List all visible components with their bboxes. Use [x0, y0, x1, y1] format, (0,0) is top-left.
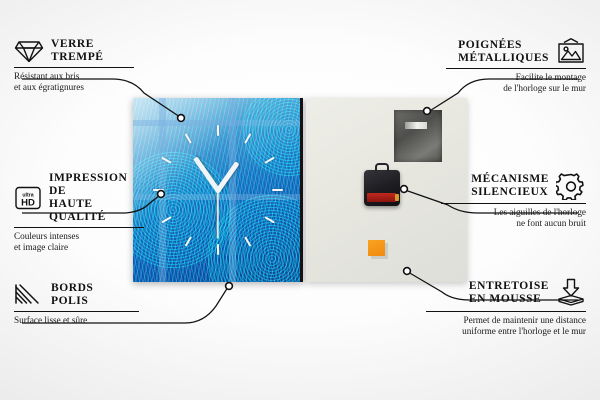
- divider: [14, 67, 134, 68]
- feature-title: BORDS POLIS: [51, 282, 93, 308]
- feature-title: IMPRESSION DE HAUTE QUALITÉ: [49, 172, 144, 224]
- feature-subtitle: Surface lisse et sûre: [14, 315, 139, 326]
- clock-tick: [153, 189, 164, 191]
- foam-spacer-arrow-icon: [556, 278, 586, 308]
- divider: [426, 311, 586, 312]
- clock-tick: [217, 244, 219, 255]
- diamond-icon: [14, 38, 44, 64]
- feature-subtitle: et image claire: [14, 242, 144, 253]
- clock-tick: [185, 133, 192, 144]
- divider: [14, 227, 144, 228]
- clock-front-face: [133, 98, 303, 282]
- feature-subtitle: Facilite le montage: [446, 72, 586, 83]
- feature-mecanisme-silencieux: MÉCANISME SILENCIEUX Les aiguilles de l'…: [441, 172, 586, 229]
- divider: [446, 68, 586, 69]
- gear-icon: [556, 172, 586, 200]
- feature-subtitle: Les aiguilles de l'horloge: [441, 207, 586, 218]
- feature-verre-trempe: VERRE TREMPÉ Résistant aux bris et aux é…: [14, 38, 134, 93]
- metal-hanging-bracket: [394, 110, 442, 162]
- ultra-hd-badge-icon: ultra HD: [14, 185, 42, 211]
- feature-header: ultra HD IMPRESSION DE HAUTE QUALITÉ: [14, 172, 144, 224]
- divider: [14, 311, 139, 312]
- feature-title: VERRE TREMPÉ: [51, 38, 104, 64]
- feature-entretoise-en-mousse: ENTRETOISE EN MOUSSE Permet de maintenir…: [426, 278, 586, 337]
- quartz-mechanism: [364, 170, 400, 206]
- feature-subtitle: uniforme entre l'horloge et le mur: [426, 326, 586, 337]
- clock-center-cap: [215, 187, 221, 193]
- feature-subtitle: Résistant aux bris: [14, 71, 134, 82]
- mechanism-hanger-loop: [375, 163, 389, 172]
- polished-edge-icon: [14, 283, 44, 307]
- feature-subtitle: ne font aucun bruit: [441, 218, 586, 229]
- clock-second-hand: [217, 191, 219, 239]
- battery: [367, 193, 396, 202]
- feature-header: BORDS POLIS: [14, 282, 139, 308]
- feature-subtitle: Couleurs intenses: [14, 231, 144, 242]
- feature-header: VERRE TREMPÉ: [14, 38, 134, 64]
- wire-dot-bords-polis: [226, 283, 233, 290]
- feature-bords-polis: BORDS POLIS Surface lisse et sûre: [14, 282, 139, 326]
- hanging-frame-icon: [556, 38, 586, 65]
- foam-spacer: [368, 240, 385, 256]
- face-swirl: [241, 98, 303, 178]
- feature-title: MÉCANISME SILENCIEUX: [471, 173, 549, 199]
- feature-subtitle: Permet de maintenir une distance: [426, 315, 586, 326]
- feature-header: MÉCANISME SILENCIEUX: [441, 172, 586, 200]
- feature-title: ENTRETOISE EN MOUSSE: [469, 280, 549, 306]
- product-image: [133, 98, 467, 282]
- clock-tick: [272, 189, 283, 191]
- divider: [441, 203, 586, 204]
- feature-impression-haute-qualite: ultra HD IMPRESSION DE HAUTE QUALITÉ Cou…: [14, 172, 144, 253]
- feature-subtitle: et aux égratignures: [14, 82, 134, 93]
- feature-title: POIGNÉES MÉTALLIQUES: [458, 39, 549, 65]
- feature-header: ENTRETOISE EN MOUSSE: [426, 278, 586, 308]
- feature-header: POIGNÉES MÉTALLIQUES: [446, 38, 586, 65]
- clock-tick: [217, 125, 219, 136]
- feature-subtitle: de l'horloge sur le mur: [446, 83, 586, 94]
- feature-poignees-metalliques: POIGNÉES MÉTALLIQUES Facilite le montage…: [446, 38, 586, 94]
- svg-text:HD: HD: [21, 198, 35, 209]
- infographic-canvas: VERRE TREMPÉ Résistant aux bris et aux é…: [0, 0, 600, 400]
